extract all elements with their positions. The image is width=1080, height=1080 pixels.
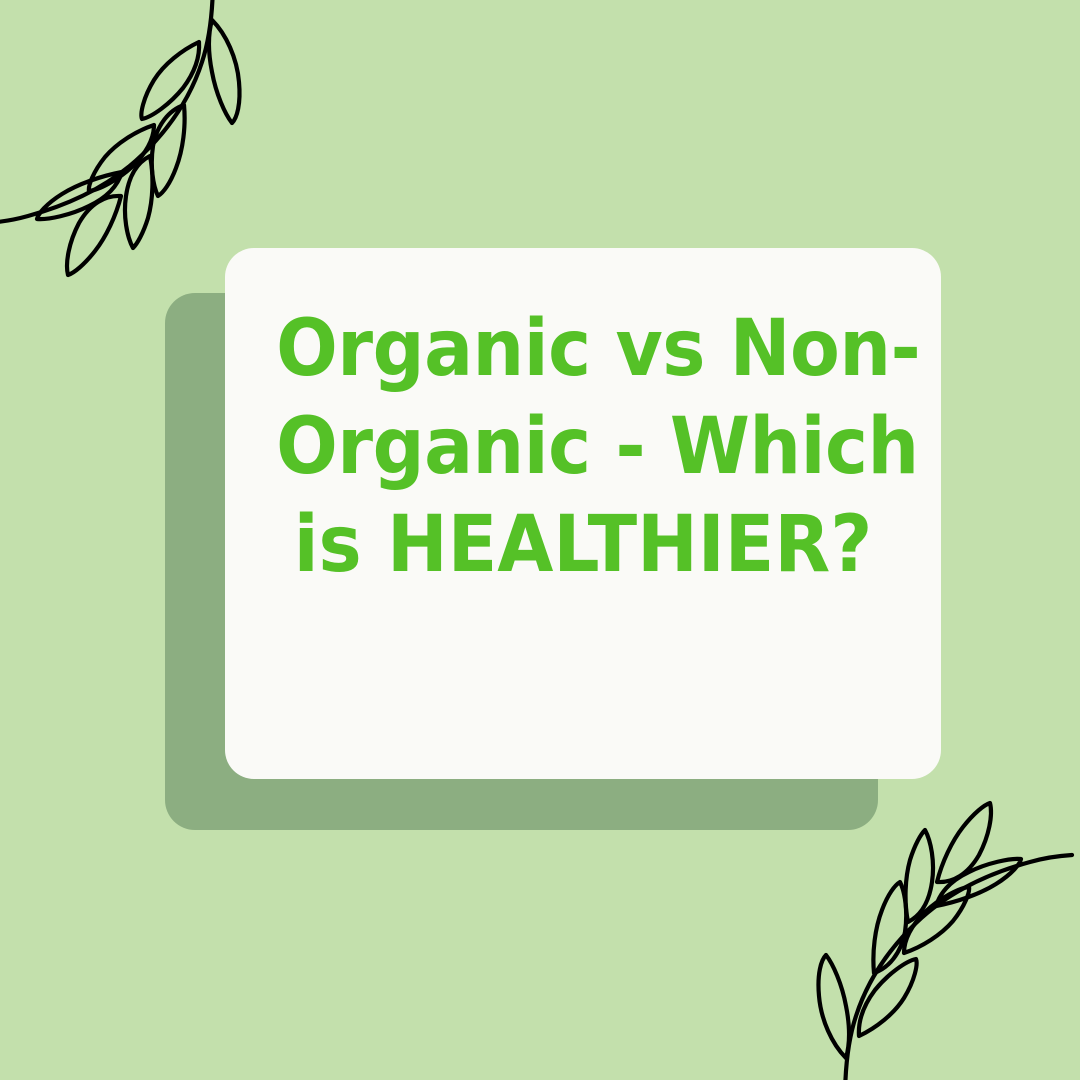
botanical-branch-top-left-icon xyxy=(0,0,294,290)
title-line-3: is HEALTHIER? xyxy=(276,496,890,594)
poster-canvas: Organic vs Non- Organic - Which is HEALT… xyxy=(0,0,1080,1080)
page-title: Organic vs Non- Organic - Which is HEALT… xyxy=(225,300,941,594)
botanical-branch-bottom-right-icon xyxy=(786,788,1080,1080)
title-line-1: Organic vs Non- xyxy=(276,300,890,398)
content-card: Organic vs Non- Organic - Which is HEALT… xyxy=(225,248,941,779)
title-line-2: Organic - Which xyxy=(276,398,890,496)
